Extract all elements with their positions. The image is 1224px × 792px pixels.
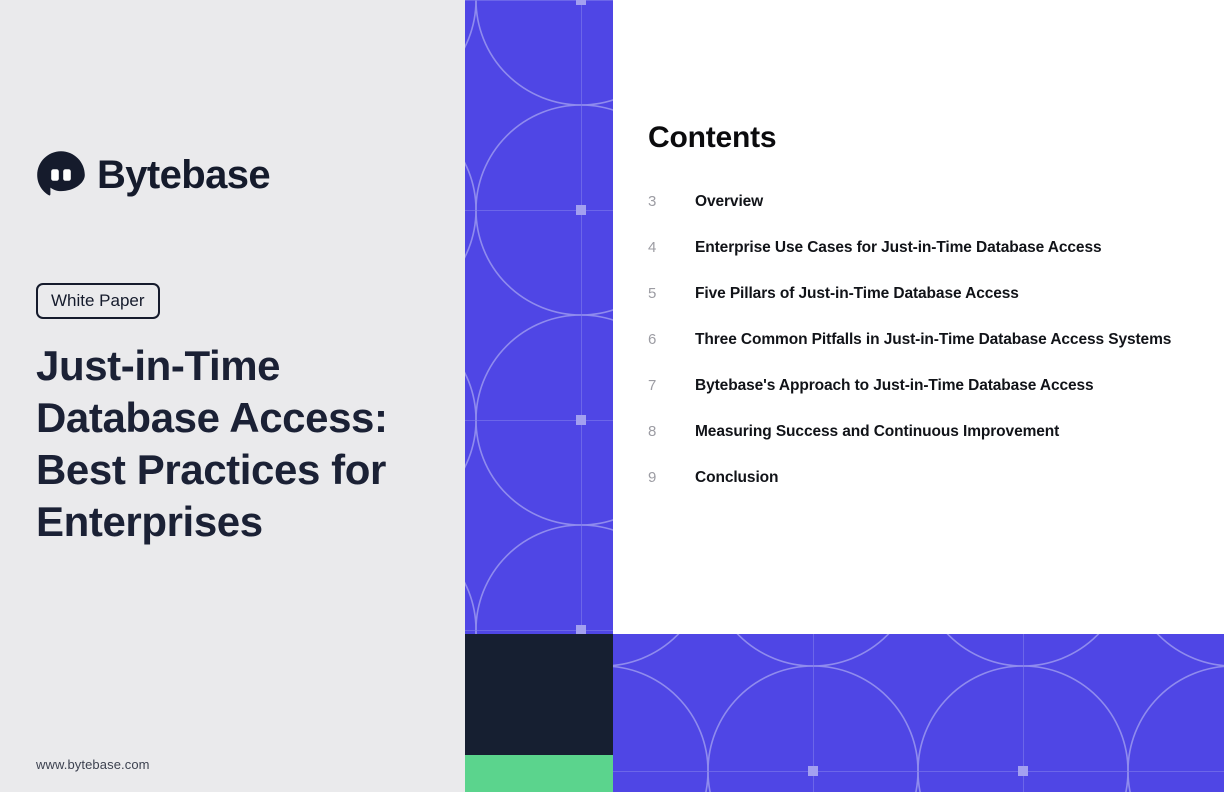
list-item[interactable]: 3 Overview: [648, 194, 1208, 240]
toc-entry-label: Enterprise Use Cases for Just-in-Time Da…: [695, 240, 1102, 256]
toc-page-number: 9: [648, 470, 695, 485]
decor-purple-band: [613, 634, 1224, 792]
whitepaper-cover-page: Bytebase White Paper Just-in-Time Databa…: [0, 0, 1224, 792]
circle-grid-pattern-icon: [465, 0, 613, 634]
contents-panel: Contents 3 Overview 4 Enterprise Use Cas…: [613, 0, 1224, 634]
list-item[interactable]: 8 Measuring Success and Continuous Impro…: [648, 424, 1208, 470]
white-paper-badge: White Paper: [36, 283, 160, 319]
decor-green-block: [465, 755, 613, 792]
toc-page-number: 5: [648, 286, 695, 301]
bytebase-logo-icon: [36, 150, 86, 200]
contents-heading: Contents: [648, 120, 776, 156]
toc-page-number: 4: [648, 240, 695, 255]
list-item[interactable]: 4 Enterprise Use Cases for Just-in-Time …: [648, 240, 1208, 286]
list-item[interactable]: 6 Three Common Pitfalls in Just-in-Time …: [648, 332, 1208, 378]
toc-page-number: 8: [648, 424, 695, 439]
circle-grid-pattern-icon: [613, 634, 1224, 792]
brand-wordmark: Bytebase: [97, 155, 270, 195]
decor-purple-column: [465, 0, 613, 634]
website-url: www.bytebase.com: [36, 757, 150, 772]
toc-entry-label: Conclusion: [695, 470, 778, 486]
toc-page-number: 7: [648, 378, 695, 393]
toc-entry-label: Three Common Pitfalls in Just-in-Time Da…: [695, 332, 1171, 348]
toc-entry-label: Measuring Success and Continuous Improve…: [695, 424, 1059, 440]
page-title: Just-in-Time Database Access: Best Pract…: [36, 340, 436, 548]
decor-navy-block: [465, 634, 613, 755]
toc-entry-label: Five Pillars of Just-in-Time Database Ac…: [695, 286, 1019, 302]
table-of-contents: 3 Overview 4 Enterprise Use Cases for Ju…: [648, 194, 1208, 516]
toc-page-number: 6: [648, 332, 695, 347]
list-item[interactable]: 7 Bytebase's Approach to Just-in-Time Da…: [648, 378, 1208, 424]
list-item[interactable]: 9 Conclusion: [648, 470, 1208, 516]
list-item[interactable]: 5 Five Pillars of Just-in-Time Database …: [648, 286, 1208, 332]
toc-page-number: 3: [648, 194, 695, 209]
toc-entry-label: Overview: [695, 194, 763, 210]
brand-logo: Bytebase: [36, 150, 270, 200]
toc-entry-label: Bytebase's Approach to Just-in-Time Data…: [695, 378, 1094, 394]
cover-left-panel: Bytebase White Paper Just-in-Time Databa…: [0, 0, 465, 792]
